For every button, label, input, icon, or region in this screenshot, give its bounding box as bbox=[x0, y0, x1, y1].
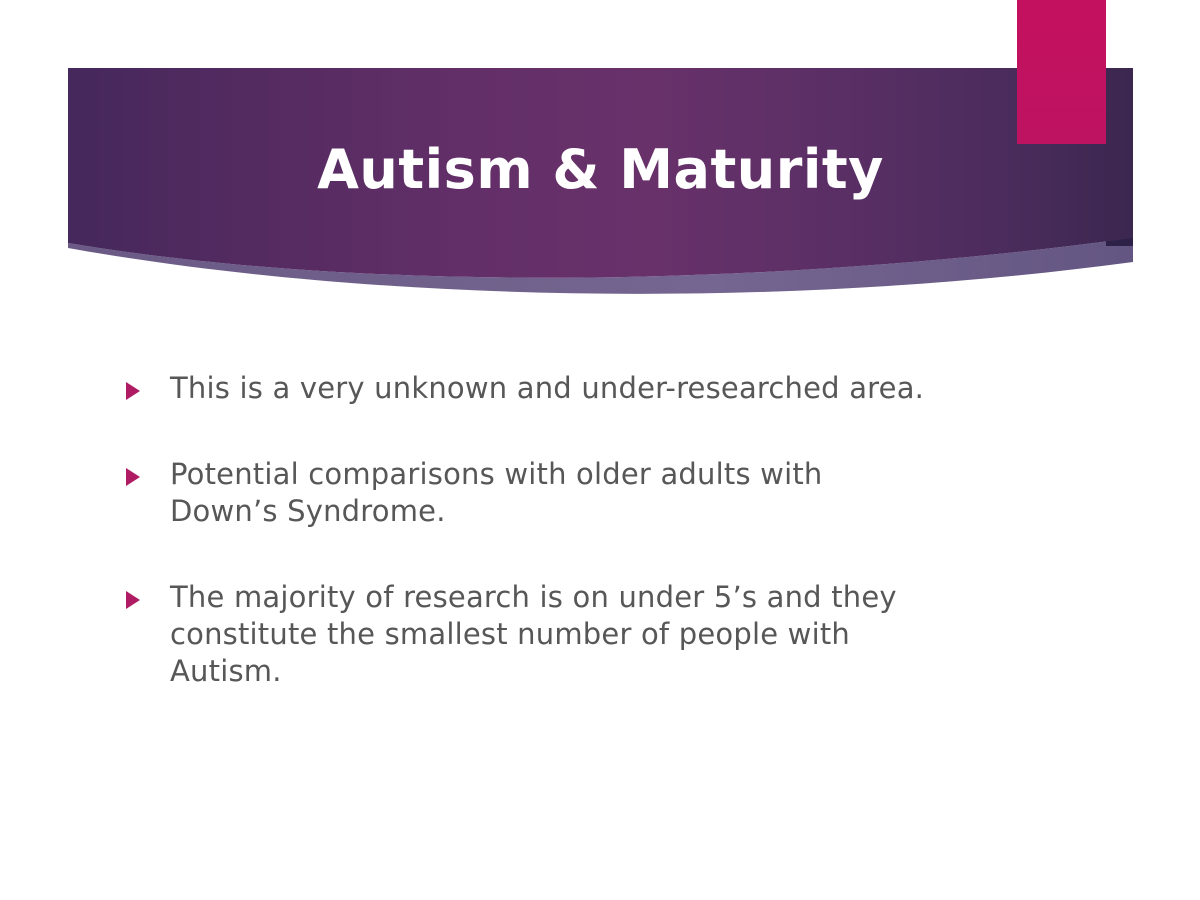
bullet-marker bbox=[0, 370, 170, 400]
slide-body: This is a very unknown and under-researc… bbox=[0, 370, 1200, 690]
slide-header-banner: Autism & Maturity bbox=[0, 0, 1200, 300]
bullet-text: Potential comparisons with older adults … bbox=[170, 456, 930, 530]
bullet-item: The majority of research is on under 5’s… bbox=[0, 579, 1200, 690]
bullet-marker bbox=[0, 579, 170, 609]
bullet-text: This is a very unknown and under-researc… bbox=[170, 370, 930, 407]
triangle-bullet-icon bbox=[126, 382, 140, 400]
bullet-marker bbox=[0, 456, 170, 486]
slide-title: Autism & Maturity bbox=[68, 138, 1133, 202]
slide: Autism & Maturity This is a very unknown… bbox=[0, 0, 1200, 900]
bullet-text: The majority of research is on under 5’s… bbox=[170, 579, 930, 690]
triangle-bullet-icon bbox=[126, 591, 140, 609]
magenta-accent-bar bbox=[1017, 0, 1106, 144]
bullet-item: This is a very unknown and under-researc… bbox=[0, 370, 1200, 407]
bullet-item: Potential comparisons with older adults … bbox=[0, 456, 1200, 530]
triangle-bullet-icon bbox=[126, 468, 140, 486]
